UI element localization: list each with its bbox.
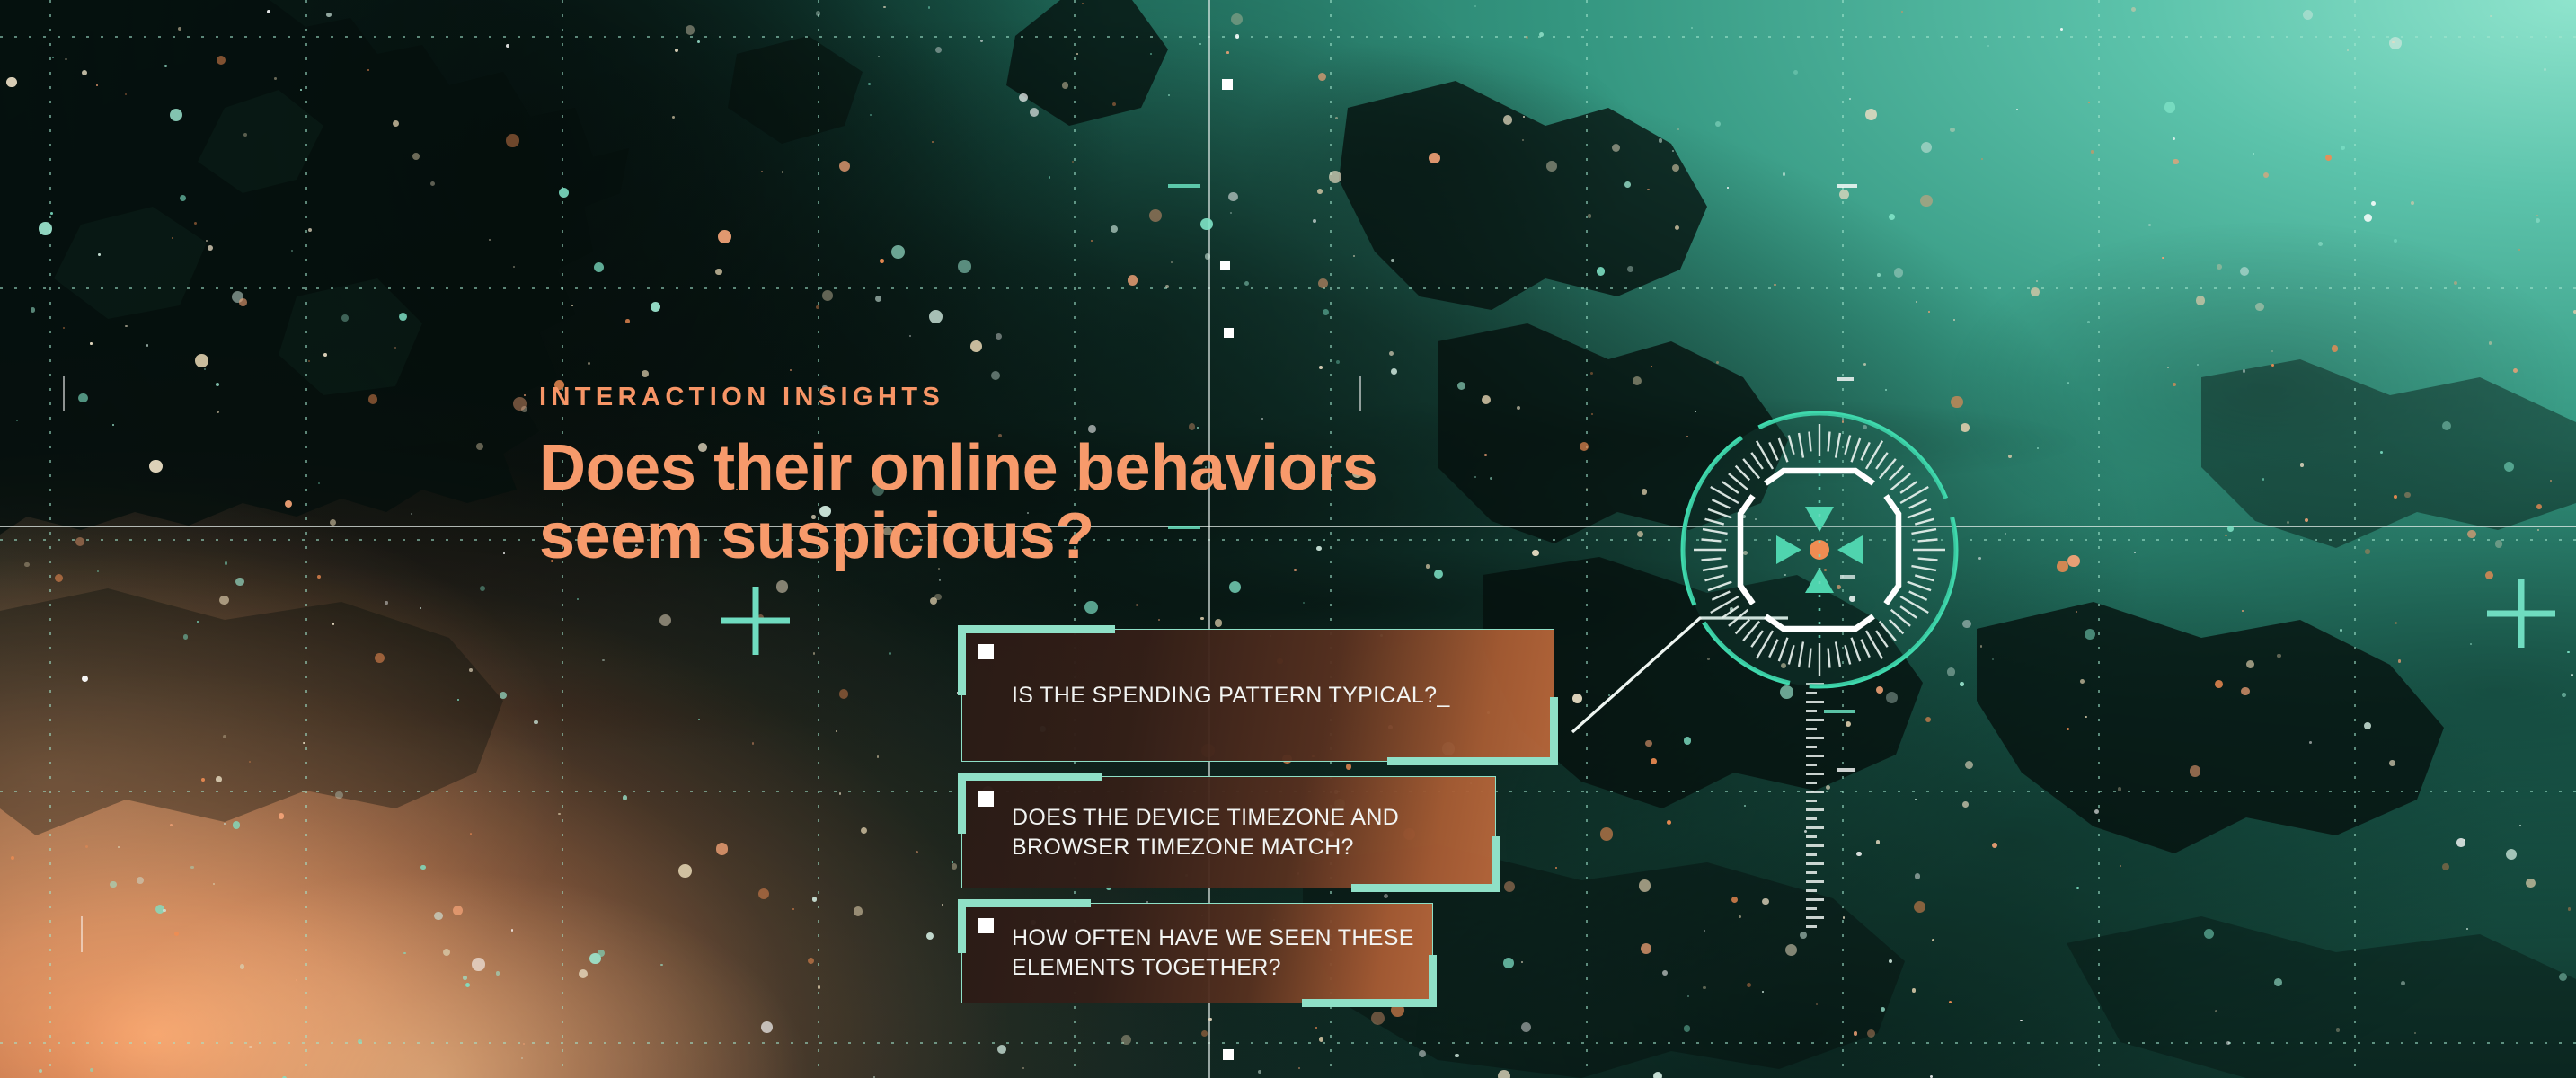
particle-dot: [39, 1069, 42, 1073]
particle-dot: [1916, 301, 1917, 303]
particle-dot: [2271, 350, 2273, 352]
particle-dot: [2091, 150, 2094, 154]
particle-dot: [2395, 622, 2397, 624]
particle-dot: [332, 623, 334, 624]
particle-dot: [991, 371, 1000, 380]
particle-dot: [1229, 581, 1241, 593]
particle-dot: [651, 302, 660, 312]
particle-dot: [1226, 51, 1229, 54]
particle-dot: [2215, 680, 2223, 688]
particle-dot: [1856, 852, 1862, 857]
particle-dot: [195, 354, 208, 367]
particle-dot: [2526, 879, 2536, 888]
particle-dot: [813, 652, 815, 654]
particle-dot: [323, 353, 327, 357]
particle-dot: [469, 668, 473, 672]
particle-dot: [1691, 27, 1693, 29]
accent-bar-top: [958, 899, 1091, 907]
particle-dot: [2389, 37, 2402, 49]
accent-bar-right: [1492, 836, 1500, 892]
particle-dot: [1633, 376, 1642, 385]
particle-dot: [1329, 171, 1341, 183]
particle-dot: [1503, 115, 1513, 125]
particle-dot: [2085, 629, 2095, 640]
particle-dot: [952, 863, 958, 870]
particle-dot: [1171, 261, 1173, 263]
particle-dot: [1168, 94, 1170, 96]
particle-dot: [2562, 693, 2566, 697]
particle-dot: [219, 596, 229, 605]
particle-dot: [463, 976, 467, 980]
particle-dot: [1854, 1031, 1858, 1036]
particle-dot: [534, 720, 537, 724]
particle-dot: [2347, 49, 2349, 51]
particle-dot: [2456, 838, 2465, 846]
particle-dot: [939, 579, 941, 580]
marker-square: [1220, 261, 1230, 270]
particle-dot: [698, 719, 700, 720]
particle-dot: [588, 362, 590, 365]
particle-dot: [149, 460, 163, 473]
particle-dot: [1523, 116, 1525, 118]
particle-dot: [808, 958, 814, 964]
particle-dot: [926, 932, 934, 940]
particle-dot: [1303, 602, 1305, 604]
particle-dot: [513, 266, 515, 268]
crosshair-right: [2487, 579, 2555, 648]
particle-dot: [2519, 825, 2521, 826]
particle-dot: [1532, 550, 1539, 557]
particle-dot: [216, 776, 222, 782]
particle-dot: [1298, 1067, 1300, 1069]
particle-dot: [96, 84, 98, 86]
particle-dot: [970, 340, 982, 352]
particle-dot: [11, 856, 14, 860]
particle-dot: [476, 443, 483, 450]
particle-dot: [2118, 787, 2122, 791]
particle-dot: [929, 310, 943, 323]
grid-line-horizontal: [0, 36, 2576, 38]
particle-dot: [1235, 34, 1240, 39]
particle-dot: [1258, 1070, 1261, 1074]
particle-dot: [2559, 973, 2567, 981]
particle-dot: [183, 634, 189, 640]
particle-dot: [2442, 863, 2449, 870]
particle-dot: [2414, 1032, 2416, 1034]
particle-dot: [816, 11, 820, 15]
particle-dot: [2131, 7, 2136, 12]
particle-dot: [146, 344, 149, 347]
particle-dot: [164, 65, 166, 66]
particle-dot: [98, 253, 100, 255]
particle-dot: [90, 342, 92, 344]
particle-dot: [1580, 442, 1589, 451]
particle-dot: [1600, 827, 1614, 841]
particle-dot: [457, 699, 459, 701]
particle-dot: [1546, 161, 1557, 172]
particle-dot: [752, 742, 755, 745]
particle-dot: [1072, 161, 1074, 163]
scale-ruler: [1806, 683, 1828, 934]
particle-dot: [2253, 153, 2254, 155]
particle-dot: [2037, 447, 2039, 449]
particle-dot: [1121, 1035, 1131, 1045]
particle-dot: [472, 958, 485, 971]
particle-dot: [997, 1045, 1006, 1054]
accent-bar-left: [958, 899, 966, 953]
particle-dot: [1539, 32, 1544, 37]
accent-bar-top: [958, 625, 1115, 633]
particle-dot: [1785, 944, 1797, 956]
particle-dot: [1925, 717, 1931, 722]
particle-dot: [1684, 737, 1692, 745]
particle-dot: [1886, 692, 1898, 703]
particle-dot: [715, 269, 721, 275]
marker-square: [1223, 1049, 1234, 1060]
particle-dot: [1165, 285, 1169, 288]
particle-dot: [625, 319, 630, 323]
accent-bar-left: [958, 773, 966, 834]
particle-dot: [1659, 138, 1662, 142]
particle-dot: [1128, 275, 1138, 285]
particle-dot: [2442, 421, 2451, 430]
particle-dot: [642, 370, 649, 377]
particle-dot: [1816, 1003, 1818, 1005]
particle-dot: [420, 607, 421, 609]
particle-dot: [1049, 176, 1051, 179]
question-card[interactable]: DOES THE DEVICE TIMEZONE AND BROWSER TIM…: [961, 776, 1496, 888]
particle-dot: [513, 397, 527, 411]
particle-dot: [2173, 159, 2179, 165]
question-card[interactable]: IS THE SPENDING PATTERN TYPICAL?_: [961, 629, 1554, 762]
particle-dot: [1597, 267, 1606, 276]
particle-dot: [1230, 212, 1232, 214]
particle-dot: [303, 742, 305, 744]
particle-dot: [279, 813, 285, 819]
particle-dot: [2300, 463, 2305, 467]
particle-dot: [50, 212, 53, 215]
accent-bar-right: [1550, 697, 1558, 765]
particle-dot: [1084, 601, 1097, 614]
particle-dot: [2568, 907, 2571, 910]
particle-dot: [213, 883, 215, 885]
grid-line-horizontal: [0, 1042, 2576, 1044]
eyebrow-label: INTERACTION INSIGHTS: [539, 384, 1377, 411]
particle-dot: [197, 621, 199, 623]
particle-dot: [958, 260, 971, 273]
particle-dot: [2226, 1041, 2230, 1045]
particle-dot: [216, 383, 219, 386]
particle-dot: [1426, 564, 1430, 568]
particle-dot: [1555, 867, 1557, 869]
particle-dot: [1608, 694, 1610, 696]
particle-dot: [571, 305, 573, 306]
particle-dot: [1200, 617, 1203, 620]
particle-dot: [1793, 70, 1798, 75]
particle-dot: [2518, 249, 2520, 251]
particle-dot: [55, 574, 63, 582]
tick-dash: [1837, 184, 1857, 188]
scene-canvas: INTERACTION INSIGHTS Does their online b…: [0, 0, 2576, 1078]
particle-dot: [2404, 492, 2411, 499]
tick-dash: [1837, 768, 1855, 772]
particle-dot: [217, 56, 226, 65]
particle-dot: [2336, 1028, 2341, 1032]
particle-dot: [1747, 983, 1751, 987]
particle-dot: [1677, 128, 1679, 130]
particle-dot: [2196, 296, 2206, 305]
particle-dot: [761, 171, 763, 172]
particle-dot: [932, 141, 934, 143]
particle-dot: [2365, 549, 2370, 554]
accent-bar-bottom: [1387, 757, 1558, 765]
particle-dot: [1022, 1067, 1024, 1069]
particle-dot: [930, 597, 937, 605]
particle-dot: [1647, 189, 1650, 191]
particle-dot: [2394, 495, 2397, 499]
particle-dot: [1062, 82, 1068, 88]
accent-bar-bottom: [1302, 999, 1437, 1007]
particle-dot: [1727, 187, 1729, 189]
particle-dot: [174, 932, 180, 937]
particle-dot: [2467, 530, 2475, 538]
particle-dot: [2325, 155, 2332, 161]
particle-dot: [1498, 1070, 1510, 1078]
particle-dot: [1019, 93, 1027, 102]
particle-dot: [24, 562, 29, 567]
particle-dot: [868, 83, 871, 85]
particle-dot: [1962, 801, 1969, 808]
accent-bar-left: [958, 625, 966, 695]
status-square-icon: [978, 644, 994, 659]
particle-dot: [190, 866, 194, 870]
particle-dot: [2274, 978, 2282, 986]
tick-dash: [1168, 184, 1200, 188]
particle-dot: [1588, 214, 1591, 217]
particle-dot: [420, 865, 425, 870]
particle-dot: [1645, 740, 1651, 747]
particle-dot: [1215, 619, 1223, 627]
marker-square: [1222, 79, 1233, 90]
particle-dot: [125, 325, 127, 327]
grid-line-horizontal: [0, 287, 2576, 289]
particle-dot: [822, 290, 833, 301]
particle-dot: [659, 614, 671, 626]
particle-dot: [2571, 674, 2572, 676]
particle-dot: [1641, 943, 1651, 954]
particle-dot: [2536, 504, 2542, 509]
particle-dot: [878, 56, 880, 57]
particle-dot: [2020, 1020, 2022, 1021]
particle-dot: [367, 69, 369, 71]
tick-dash: [1837, 377, 1854, 381]
particle-dot: [928, 6, 931, 9]
particle-dot: [233, 821, 241, 829]
tick-dash: [63, 376, 65, 411]
particle-dot: [2080, 679, 2085, 684]
particle-dot: [2567, 651, 2570, 654]
particle-dot: [411, 513, 412, 515]
particle-dot: [2164, 102, 2175, 112]
particle-dot: [217, 411, 219, 413]
particle-dot: [1244, 281, 1249, 286]
particle-dot: [170, 824, 173, 826]
particle-dot: [1627, 266, 1633, 272]
particle-dot: [2364, 722, 2371, 729]
particle-dot: [1949, 1001, 1952, 1003]
particle-dot: [839, 689, 849, 699]
particle-dot: [521, 1057, 523, 1059]
particle-dot: [1205, 253, 1211, 260]
particle-dot: [1474, 476, 1476, 478]
particle-dot: [249, 1046, 252, 1049]
particle-dot: [1313, 219, 1316, 223]
particle-dot: [1889, 959, 1892, 963]
particle-dot: [1030, 108, 1039, 117]
particle-dot: [2197, 364, 2199, 366]
accent-bar-top: [958, 773, 1102, 781]
particle-dot: [2057, 561, 2068, 572]
particle-dot: [358, 1039, 362, 1044]
particle-dot: [39, 222, 52, 235]
tick-dash: [81, 916, 83, 952]
particle-dot: [239, 298, 247, 306]
particle-dot: [1774, 284, 1775, 286]
particle-dot: [952, 861, 954, 863]
accent-bar-bottom: [1351, 884, 1500, 892]
particle-dot: [818, 985, 821, 989]
particle-dot: [2190, 765, 2201, 777]
particle-dot: [2255, 303, 2263, 311]
particle-dot: [718, 230, 731, 243]
question-card[interactable]: HOW OFTEN HAVE WE SEEN THESE ELEMENTS TO…: [961, 903, 1433, 1003]
particle-dot: [1876, 840, 1881, 844]
accent-bar-right: [1429, 955, 1437, 1007]
particle-dot: [1391, 368, 1397, 375]
particle-dot: [2031, 287, 2040, 296]
particle-dot: [1642, 489, 1648, 495]
status-square-icon: [978, 791, 994, 807]
particle-dot: [839, 161, 850, 172]
tick-dash: [1824, 710, 1855, 713]
particle-dot: [1962, 620, 1971, 629]
particle-dot: [1950, 128, 1955, 133]
particle-dot: [335, 791, 343, 800]
particle-dot: [877, 755, 880, 758]
marker-square: [1224, 328, 1234, 338]
particle-dot: [308, 360, 310, 362]
particle-dot: [453, 906, 463, 915]
particle-dot: [443, 949, 450, 956]
particle-dot: [496, 971, 500, 976]
particle-dot: [1317, 189, 1323, 194]
particle-dot: [2544, 68, 2545, 70]
particle-dot: [274, 77, 277, 80]
particle-dot: [1703, 986, 1706, 990]
particle-dot: [1136, 604, 1138, 606]
particle-dot: [1228, 192, 1238, 202]
particle-dot: [1591, 413, 1593, 415]
particle-dot: [1889, 214, 1895, 220]
copy-block: INTERACTION INSIGHTS Does their online b…: [539, 384, 1377, 571]
particle-dot: [1201, 1030, 1208, 1037]
particle-dot: [1319, 1037, 1324, 1042]
particle-dot: [267, 10, 270, 13]
particle-dot: [2067, 555, 2080, 568]
particle-dot: [1675, 225, 1679, 230]
particle-dot: [291, 250, 293, 252]
particle-dot: [672, 116, 675, 119]
radar-reticle: [1676, 406, 1963, 694]
particle-dot: [2227, 526, 2234, 532]
particle-dot: [1484, 454, 1487, 456]
particle-dot: [1455, 1054, 1459, 1058]
particle-dot: [558, 813, 560, 815]
particle-dot: [506, 44, 509, 48]
particle-dot: [511, 929, 514, 932]
particle-dot: [1894, 268, 1904, 278]
status-square-icon: [978, 918, 994, 933]
particle-dot: [1639, 879, 1651, 892]
particle-dot: [579, 969, 588, 978]
particle-dot: [678, 864, 692, 878]
particle-dot: [1920, 195, 1933, 208]
particle-dot: [296, 979, 297, 981]
particle-dot: [1624, 181, 1631, 188]
particle-dot: [1651, 758, 1657, 764]
particle-dot: [375, 653, 385, 663]
particle-dot: [675, 49, 678, 52]
particle-dot: [594, 262, 604, 272]
particle-dot: [82, 70, 87, 75]
particle-dot: [697, 40, 700, 43]
crosshair-left: [721, 587, 790, 655]
particle-dot: [2243, 369, 2246, 373]
particle-dot: [1336, 360, 1340, 364]
particle-dot: [1863, 363, 1866, 366]
particle-dot: [1881, 1007, 1885, 1012]
particle-dot: [6, 77, 16, 87]
particle-dot: [1572, 694, 1582, 703]
particle-dot: [2389, 760, 2395, 766]
particle-dot: [2550, 480, 2552, 482]
particle-dot: [1672, 164, 1679, 172]
particle-dot: [2411, 201, 2414, 205]
particle-dot: [577, 598, 579, 600]
particle-dot: [2332, 345, 2339, 352]
particle-dot: [1315, 1027, 1318, 1029]
page-title: Does their online behaviors seem suspici…: [539, 434, 1377, 571]
particle-dot: [2341, 146, 2345, 150]
particle-dot: [2309, 741, 2312, 744]
particle-dot: [1914, 901, 1925, 913]
particle-dot: [206, 240, 208, 242]
particle-dot: [1335, 117, 1338, 119]
particle-dot: [1208, 1018, 1212, 1021]
particle-dot: [716, 843, 728, 854]
particle-dot: [385, 601, 387, 604]
particle-dot: [240, 964, 244, 968]
particle-dot: [1526, 36, 1528, 39]
particle-dot: [1885, 389, 1887, 391]
particle-dot: [854, 906, 863, 915]
particle-dot: [1389, 351, 1394, 356]
particle-dot: [2490, 15, 2492, 17]
particle-dot: [1521, 1022, 1531, 1032]
particle-dot: [506, 134, 519, 147]
particle-dot: [1318, 73, 1326, 81]
particle-dot: [2204, 929, 2214, 939]
